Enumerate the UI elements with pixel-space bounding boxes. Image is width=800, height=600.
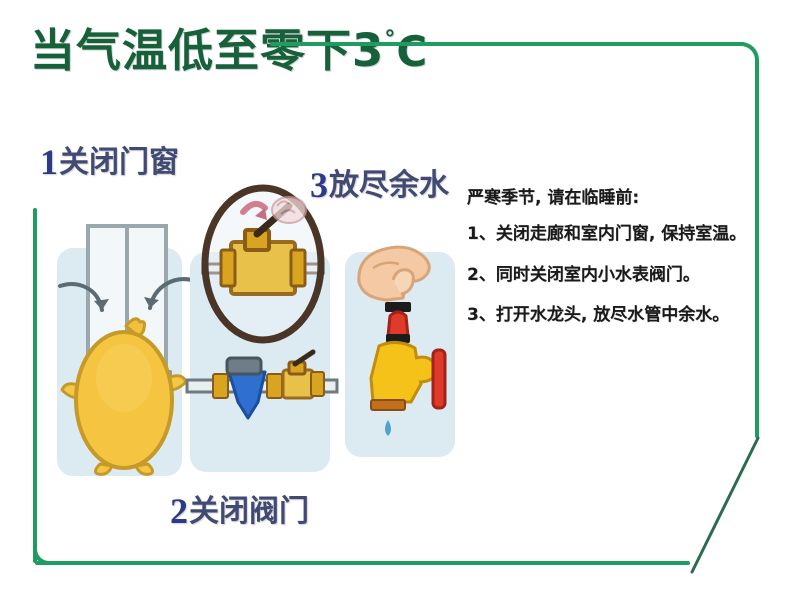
instructions-lead: 严寒季节, 请在临睡前: bbox=[467, 188, 747, 208]
step-text-2: 关闭阀门 bbox=[189, 494, 309, 529]
frame-diagonal-line bbox=[600, 400, 780, 580]
degree-symbol: ° bbox=[384, 27, 396, 52]
frame-top-line bbox=[270, 42, 745, 46]
step-number-1: 1 bbox=[40, 142, 58, 182]
frame-right-line bbox=[755, 70, 759, 438]
faucet-drain-icon bbox=[345, 238, 465, 463]
instruction-item-2: 2、同时关闭室内小水表阀门。 bbox=[467, 265, 747, 285]
headline-main: 当气温低至零下 bbox=[30, 24, 352, 77]
frame-left-line bbox=[33, 208, 37, 563]
instruction-item-3: 3、打开水龙头, 放尽水管中余水。 bbox=[467, 305, 747, 325]
poster-canvas: 当气温低至零下3°C 1关闭门窗 2关闭阀门 3放尽余水 bbox=[0, 0, 800, 600]
frame-bottom-line bbox=[35, 561, 690, 565]
page-title: 当气温低至零下3°C bbox=[30, 14, 428, 79]
frame-corner-top-right bbox=[725, 42, 759, 76]
step-label-1: 1关闭门窗 bbox=[40, 137, 179, 181]
headline-value: 3 bbox=[352, 24, 384, 77]
instruction-item-1: 1、关闭走廊和室内门窗, 保持室温。 bbox=[467, 224, 747, 244]
step-number-2: 2 bbox=[170, 491, 188, 531]
step-text-1: 关闭门窗 bbox=[59, 145, 179, 180]
step-text-3: 放尽余水 bbox=[329, 168, 449, 203]
instructions-block: 严寒季节, 请在临睡前: 1、关闭走廊和室内门窗, 保持室温。 2、同时关闭室内… bbox=[467, 188, 747, 326]
headline-unit: C bbox=[396, 27, 428, 76]
water-meter-valve-icon bbox=[185, 176, 340, 446]
